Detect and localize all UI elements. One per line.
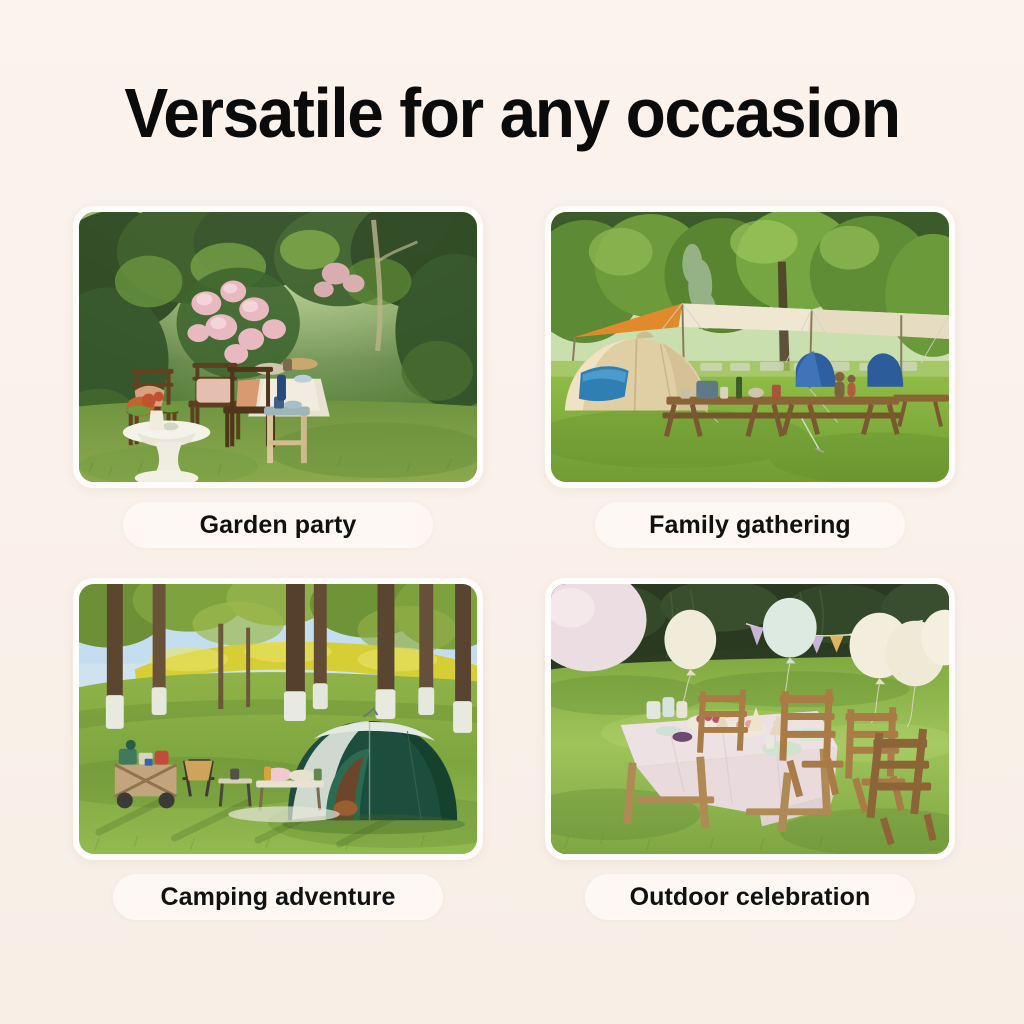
photo-garden-party (79, 212, 477, 482)
caption-label: Camping adventure (160, 883, 395, 912)
caption-label: Outdoor celebration (630, 883, 871, 912)
caption-label: Family gathering (649, 511, 851, 540)
caption-label: Garden party (200, 511, 357, 540)
caption-pill-camping-adventure[interactable]: Camping adventure (113, 874, 443, 920)
page-title: Versatile for any occasion (31, 74, 994, 152)
outdoor-celebration-illustration (551, 584, 949, 854)
photo-family-gathering (551, 212, 949, 482)
photo-frame-garden-party (73, 206, 483, 488)
occasion-card-family-gathering[interactable]: Family gathering (544, 206, 956, 548)
caption-pill-outdoor-celebration[interactable]: Outdoor celebration (585, 874, 915, 920)
photo-frame-camping-adventure (73, 578, 483, 860)
occasion-card-garden-party[interactable]: Garden party (72, 206, 484, 548)
photo-frame-family-gathering (545, 206, 955, 488)
caption-pill-family-gathering[interactable]: Family gathering (595, 502, 905, 548)
caption-pill-garden-party[interactable]: Garden party (123, 502, 433, 548)
occasion-card-camping-adventure[interactable]: Camping adventure (72, 578, 484, 920)
occasion-grid: Garden party (72, 206, 956, 920)
photo-outdoor-celebration (551, 584, 949, 854)
family-gathering-illustration (551, 212, 949, 482)
camping-adventure-illustration (79, 584, 477, 854)
photo-frame-outdoor-celebration (545, 578, 955, 860)
photo-camping-adventure (79, 584, 477, 854)
occasion-card-outdoor-celebration[interactable]: Outdoor celebration (544, 578, 956, 920)
garden-party-illustration (79, 212, 477, 482)
